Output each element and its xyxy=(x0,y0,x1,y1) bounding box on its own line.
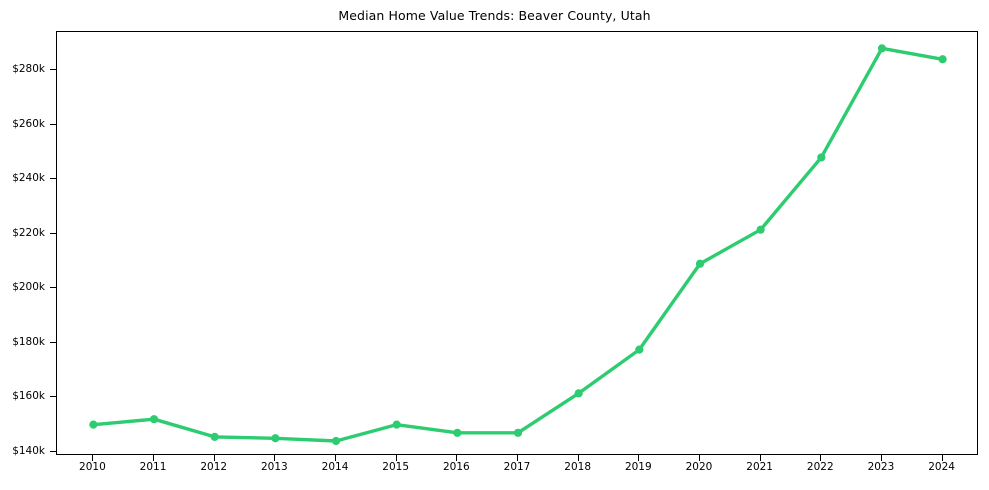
x-axis-tick-label: 2018 xyxy=(564,461,591,473)
x-axis-tick-label: 2016 xyxy=(443,461,470,473)
data-point-marker xyxy=(89,421,97,429)
y-axis-tick-label: $260k xyxy=(12,118,45,130)
x-axis-tick-label: 2014 xyxy=(322,461,349,473)
x-axis-tick-label: 2013 xyxy=(261,461,288,473)
y-axis-tick-label: $240k xyxy=(12,172,45,184)
data-point-marker xyxy=(211,433,219,441)
x-axis-tick-label: 2019 xyxy=(625,461,652,473)
data-point-marker xyxy=(514,429,522,437)
data-point-marker xyxy=(393,421,401,429)
data-point-marker xyxy=(635,346,643,354)
data-point-marker xyxy=(939,55,947,63)
x-axis-tick-label: 2017 xyxy=(504,461,531,473)
series-line-median-home-value xyxy=(93,48,942,441)
plot-area xyxy=(56,31,978,455)
data-point-marker xyxy=(453,429,461,437)
data-point-marker xyxy=(878,44,886,52)
y-axis-tick-label: $180k xyxy=(12,336,45,348)
data-point-marker xyxy=(817,153,825,161)
y-axis-tick-label: $200k xyxy=(12,281,45,293)
data-point-marker xyxy=(332,437,340,445)
data-point-marker xyxy=(696,260,704,268)
chart-title: Median Home Value Trends: Beaver County,… xyxy=(0,8,989,23)
y-axis-tick-labels: $140k$160k$180k$200k$220k$240k$260k$280k xyxy=(0,0,45,490)
x-axis-tick-label: 2020 xyxy=(686,461,713,473)
x-axis-tick-label: 2023 xyxy=(868,461,895,473)
line-series-svg xyxy=(57,32,979,456)
x-axis-tick-label: 2010 xyxy=(79,461,106,473)
y-axis-tick-label: $220k xyxy=(12,227,45,239)
y-axis-tick-label: $280k xyxy=(12,63,45,75)
x-axis-tick-label: 2021 xyxy=(746,461,773,473)
x-axis-tick-label: 2011 xyxy=(140,461,167,473)
data-point-marker xyxy=(150,415,158,423)
x-axis-tick-label: 2012 xyxy=(200,461,227,473)
x-axis-tick-label: 2022 xyxy=(807,461,834,473)
data-point-marker xyxy=(757,226,765,234)
x-axis-tick-label: 2024 xyxy=(928,461,955,473)
y-axis-tick-label: $160k xyxy=(12,390,45,402)
chart-figure: Median Home Value Trends: Beaver County,… xyxy=(0,0,989,490)
y-axis-tick-label: $140k xyxy=(12,445,45,457)
series-markers xyxy=(89,44,946,445)
data-point-marker xyxy=(575,389,583,397)
data-point-marker xyxy=(271,434,279,442)
x-axis-tick-label: 2015 xyxy=(382,461,409,473)
